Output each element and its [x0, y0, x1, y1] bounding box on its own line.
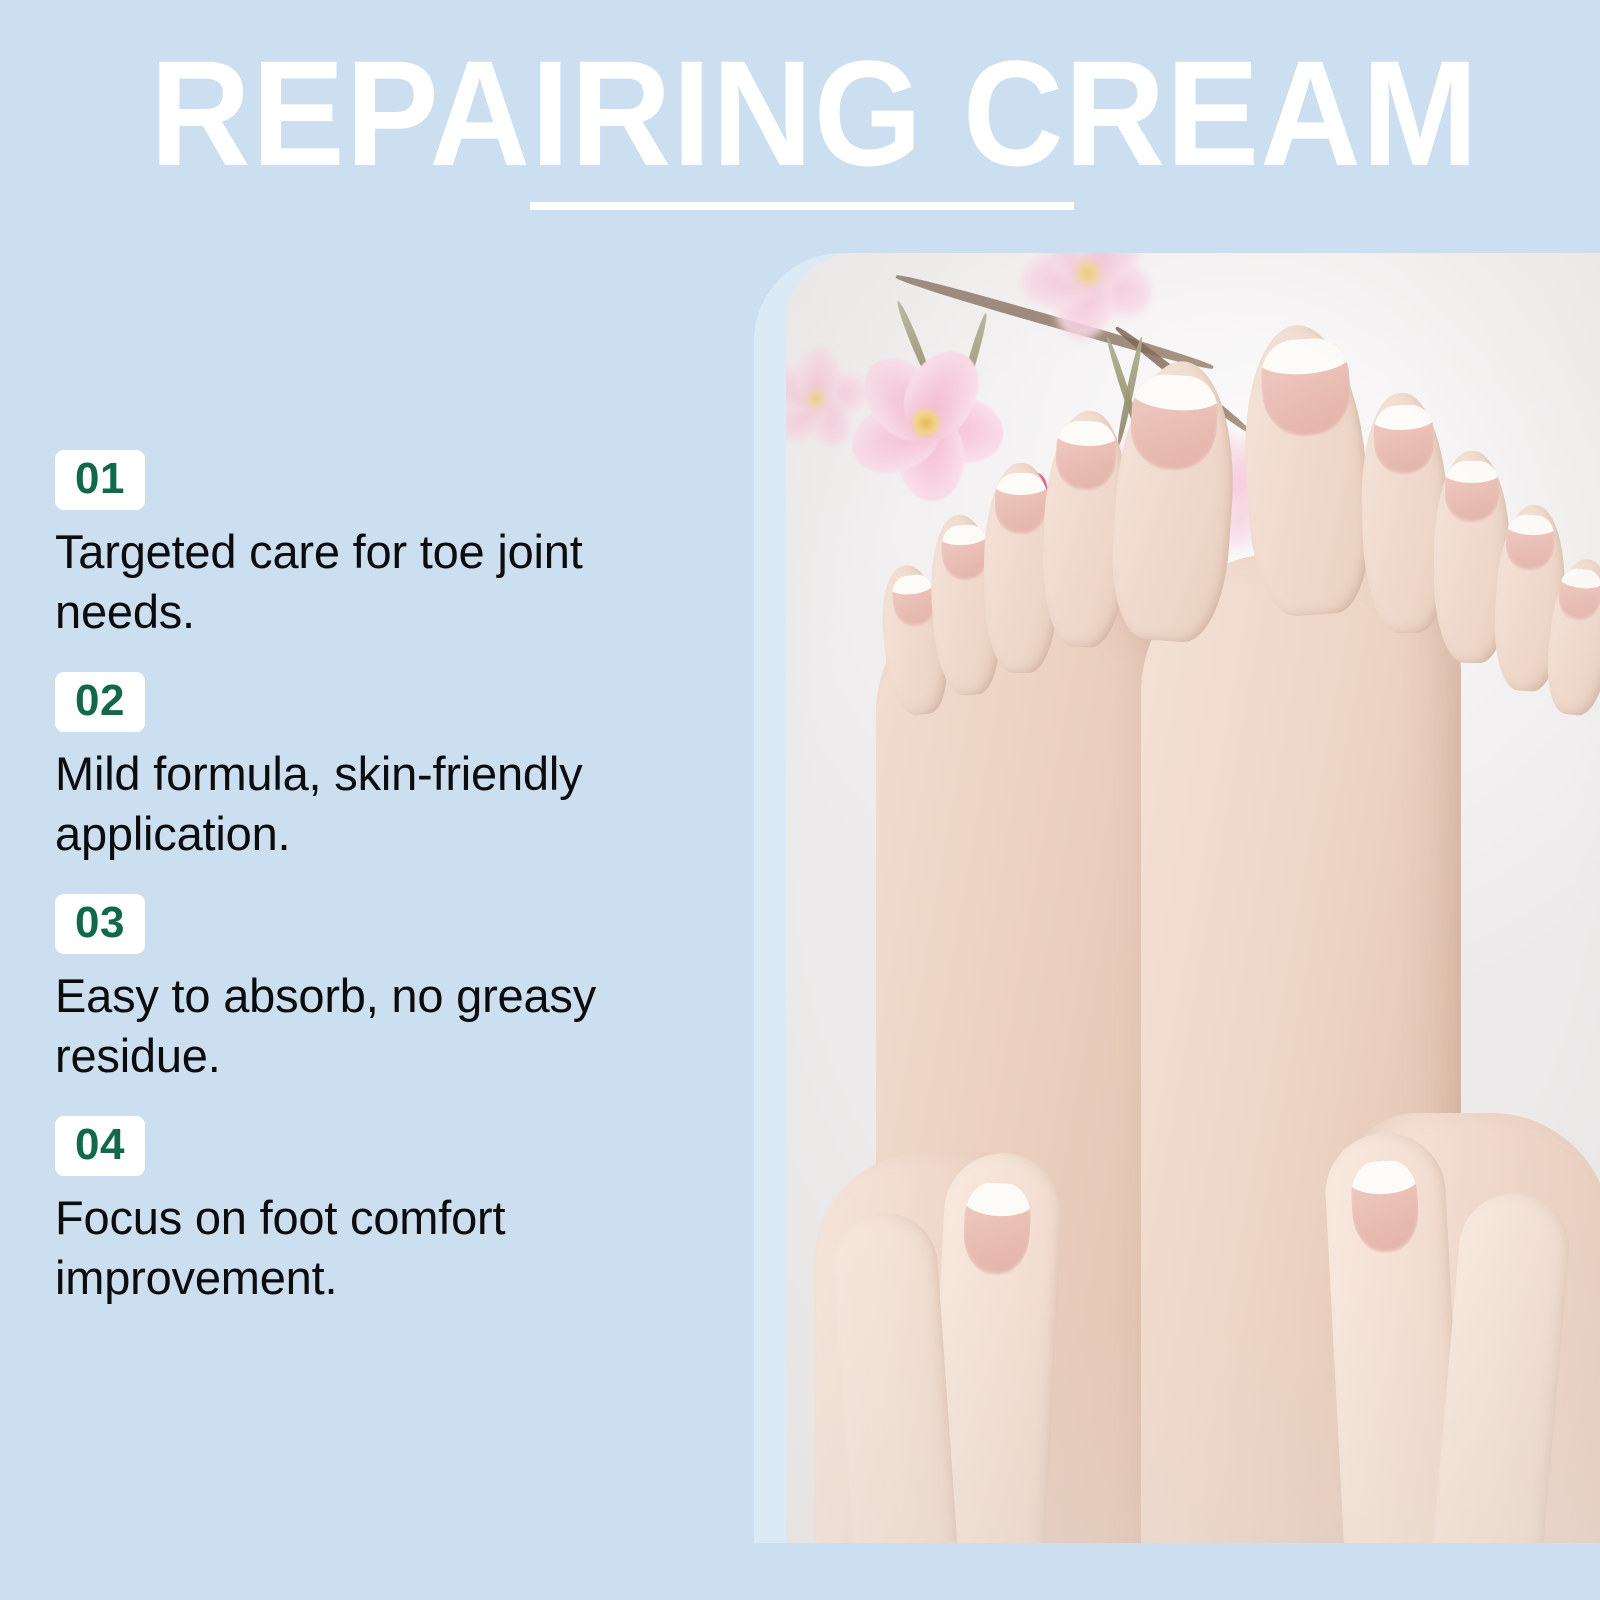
feature-item-02: 02 Mild formula, skin-friendly applicati… [55, 672, 695, 864]
poster-header: REPAIRING CREAM [0, 0, 1600, 250]
feature-number-badge: 02 [55, 672, 145, 732]
feature-description: Easy to absorb, no greasy residue. [55, 966, 675, 1086]
product-poster: REPAIRING CREAM 01 Targeted care for toe… [0, 0, 1600, 1600]
product-photo [786, 253, 1600, 1543]
feature-item-01: 01 Targeted care for toe joint needs. [55, 450, 695, 642]
feature-description: Mild formula, skin-friendly application. [55, 744, 675, 864]
page-title: REPAIRING CREAM [150, 38, 1368, 188]
feature-item-04: 04 Focus on foot comfort improvement. [55, 1116, 695, 1308]
title-underline [530, 202, 1074, 210]
feature-number-badge: 03 [55, 894, 145, 954]
feature-number-badge: 04 [55, 1116, 145, 1176]
feature-description: Focus on foot comfort improvement. [55, 1188, 675, 1308]
feature-number-badge: 01 [55, 450, 145, 510]
feature-item-03: 03 Easy to absorb, no greasy residue. [55, 894, 695, 1086]
feature-list: 01 Targeted care for toe joint needs. 02… [55, 450, 695, 1308]
feature-description: Targeted care for toe joint needs. [55, 522, 675, 642]
